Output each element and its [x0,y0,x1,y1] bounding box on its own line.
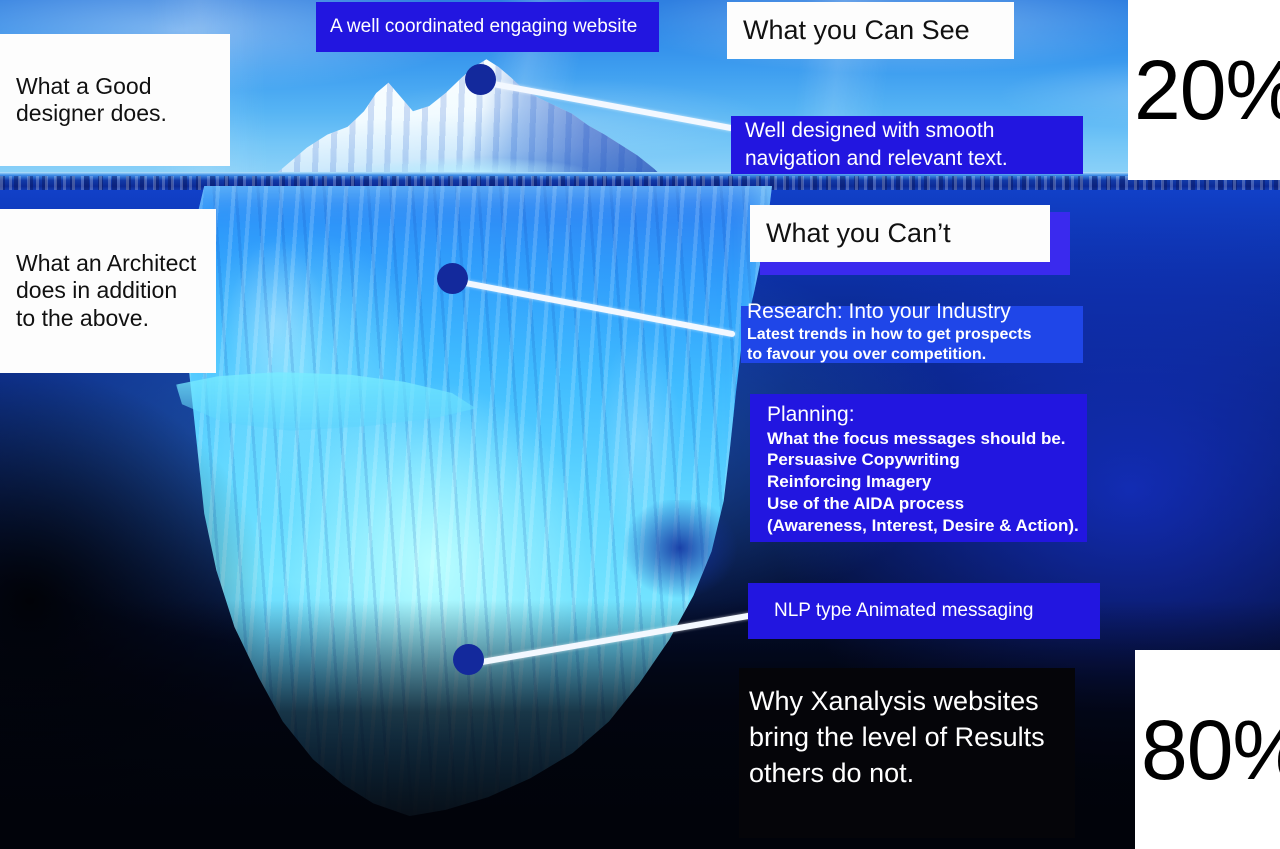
what-you-can-see-text: What you Can See [743,15,998,47]
callout-well-designed[interactable]: Well designed with smooth navigation and… [731,116,1083,174]
callout-dot-nlp[interactable] [453,644,484,675]
architect-text: What an Architect does in addition to th… [16,250,200,331]
conclusion-box: Why Xanalysis websites bring the level o… [739,668,1075,838]
callout-research-body: Latest trends in how to get prospects to… [747,325,1083,364]
percent-box-visible: 20% [1128,0,1280,180]
label-box-good-designer: What a Good designer does. [0,34,230,166]
iceberg-infographic: What a Good designer does. What an Archi… [0,0,1280,849]
what-you-cant-text: What you Can’t [766,218,1034,250]
callout-dot-research[interactable] [437,263,468,294]
callout-planning-heading: Planning: [767,402,1087,428]
callout-nlp-text: NLP type Animated messaging [774,600,1033,622]
percent-hidden-value: 80% [1135,708,1280,792]
callout-coordinated-website[interactable]: A well coordinated engaging website [316,2,659,52]
good-designer-text: What a Good designer does. [16,73,214,127]
label-box-architect: What an Architect does in addition to th… [0,209,216,373]
callout-dot-well-designed[interactable] [465,64,496,95]
percent-visible-value: 20% [1128,48,1280,132]
callout-nlp[interactable]: NLP type Animated messaging [748,583,1100,639]
label-box-what-you-cant: What you Can’t [750,205,1050,262]
callout-research-heading: Research: Into your Industry [747,299,1083,324]
callout-coordinated-website-text: A well coordinated engaging website [330,16,637,38]
conclusion-text: Why Xanalysis websites bring the level o… [749,684,1075,792]
callout-research[interactable]: Research: Into your Industry Latest tren… [741,306,1083,363]
callout-well-designed-text: Well designed with smooth navigation and… [745,117,1008,172]
callout-planning-body: What the focus messages should be. Persu… [767,428,1087,537]
callout-planning[interactable]: Planning: What the focus messages should… [750,394,1087,542]
percent-box-hidden: 80% [1135,650,1280,849]
label-box-what-you-can-see: What you Can See [727,2,1014,59]
